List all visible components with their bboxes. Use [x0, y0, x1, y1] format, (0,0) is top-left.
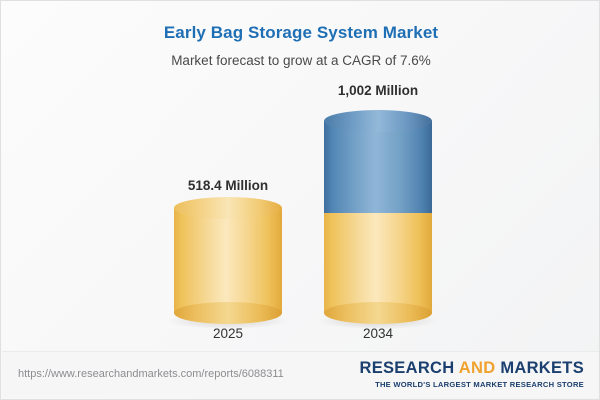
plot-area: 518.4 Million 2025 1,002 Million — [1, 1, 600, 353]
logo-word-markets: MARKETS — [500, 359, 584, 377]
value-label-2034: 1,002 Million — [288, 83, 468, 98]
cylinder-segment-growth — [324, 121, 432, 213]
chart-card: Early Bag Storage System Market Market f… — [0, 0, 600, 400]
category-label-2034: 2034 — [324, 326, 432, 341]
cylinder-bottom — [324, 302, 432, 324]
cylinder-segment-base — [324, 213, 432, 313]
source-url[interactable]: https://www.researchandmarkets.com/repor… — [18, 368, 284, 380]
logo-tagline: THE WORLD'S LARGEST MARKET RESEARCH STOR… — [359, 380, 584, 389]
cylinder-2034[interactable] — [324, 121, 432, 313]
cylinder-top-cap — [324, 110, 432, 132]
footer: https://www.researchandmarkets.com/repor… — [2, 351, 600, 398]
cylinder-top-cap — [174, 197, 282, 219]
value-label-2025: 518.4 Million — [138, 178, 318, 193]
logo-word-research: RESEARCH — [359, 359, 454, 377]
brand-logo[interactable]: RESEARCH AND MARKETS THE WORLD'S LARGEST… — [359, 359, 584, 389]
cylinder-bottom — [174, 302, 282, 324]
category-label-2025: 2025 — [174, 326, 282, 341]
cylinder-2025[interactable] — [174, 208, 282, 313]
logo-word-and: AND — [459, 359, 496, 377]
cylinder-segment-base — [174, 208, 282, 313]
logo-wordmark: RESEARCH AND MARKETS — [359, 359, 584, 378]
